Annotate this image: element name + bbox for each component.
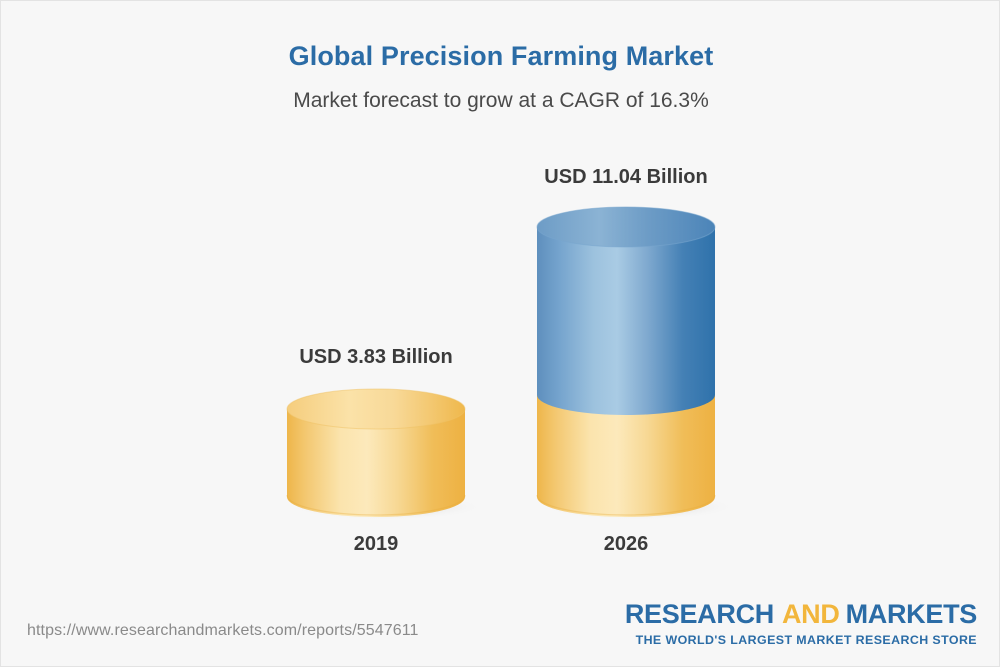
logo-word-markets: MARKETS	[846, 599, 977, 629]
infographic-page: Global Precision Farming Market Market f…	[0, 0, 1000, 667]
report-url-link[interactable]: https://www.researchandmarkets.com/repor…	[27, 622, 419, 640]
research-and-markets-logo[interactable]: RESEARCHANDMARKETS THE WORLD'S LARGEST M…	[625, 601, 977, 646]
chart-plot-area: USD 3.83 Billion 2019 USD 11.04 Billion	[1, 1, 1000, 601]
logo-word-research: RESEARCH	[625, 599, 774, 629]
bar-category-label-2026: 2026	[486, 533, 766, 556]
logo-word-and: AND	[782, 599, 840, 629]
cylinder-shape-2019	[279, 383, 489, 523]
logo-tagline: THE WORLD'S LARGEST MARKET RESEARCH STOR…	[625, 634, 977, 646]
logo-wordmark: RESEARCHANDMARKETS	[625, 601, 977, 628]
bar-category-label-2019: 2019	[236, 533, 516, 556]
bar-value-label-2019: USD 3.83 Billion	[236, 346, 516, 369]
cylinder-shape-2026	[529, 199, 739, 524]
bar-value-label-2026: USD 11.04 Billion	[486, 166, 766, 189]
